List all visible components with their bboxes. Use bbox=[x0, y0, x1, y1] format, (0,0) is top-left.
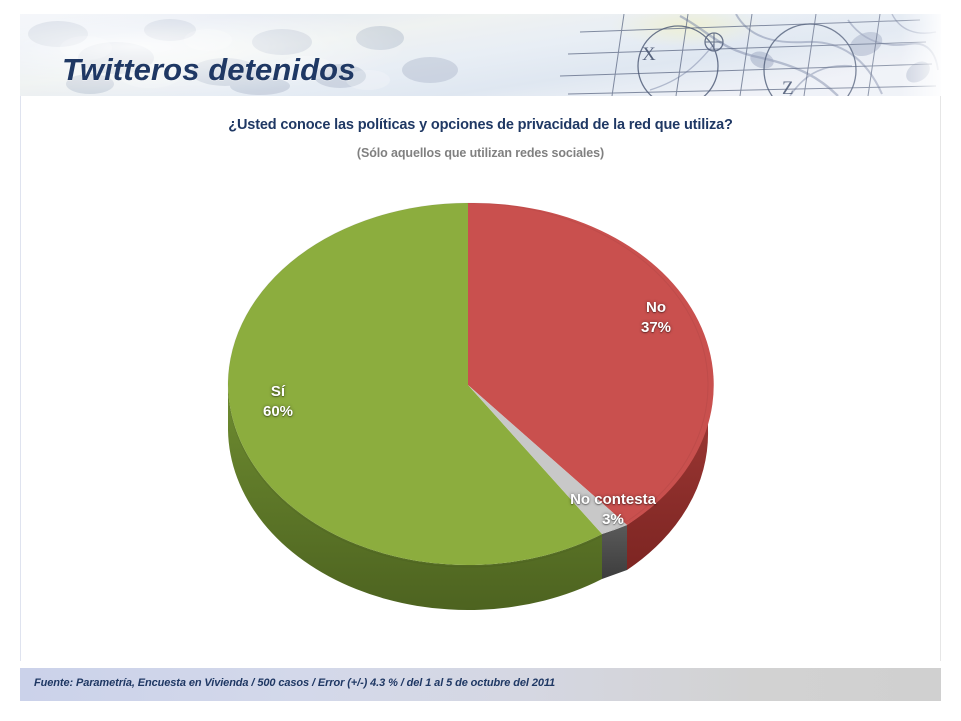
slide-footer-bar: Fuente: Parametría, Encuesta en Vivienda… bbox=[20, 668, 941, 701]
pie-slice-no-contesta-side bbox=[602, 525, 627, 579]
slide-header-banner: X Z Twitteros detenidos bbox=[20, 14, 941, 96]
pie-label-si-name: Sí bbox=[218, 382, 338, 402]
pie-label-no-contesta: No contesta 3% bbox=[528, 490, 698, 531]
pie-label-no-contesta-value: 3% bbox=[528, 510, 698, 530]
chart-title: ¿Usted conoce las políticas y opciones d… bbox=[0, 117, 961, 133]
presentation-slide: X Z Twitteros detenidos ¿Usted conoce la… bbox=[0, 0, 961, 721]
pie-label-si-value: 60% bbox=[218, 402, 338, 422]
chart-subtitle: (Sólo aquellos que utilizan redes social… bbox=[0, 146, 961, 160]
content-left-rule bbox=[20, 96, 21, 661]
content-right-rule bbox=[940, 96, 941, 661]
pie-label-no-name: No bbox=[596, 298, 716, 318]
pie-label-no-contesta-name: No contesta bbox=[528, 490, 698, 510]
pie-label-no-value: 37% bbox=[596, 318, 716, 338]
pie-label-si: Sí 60% bbox=[218, 382, 338, 423]
page-title: Twitteros detenidos bbox=[62, 52, 356, 88]
source-note: Fuente: Parametría, Encuesta en Vivienda… bbox=[34, 677, 555, 689]
pie-label-no: No 37% bbox=[596, 298, 716, 339]
